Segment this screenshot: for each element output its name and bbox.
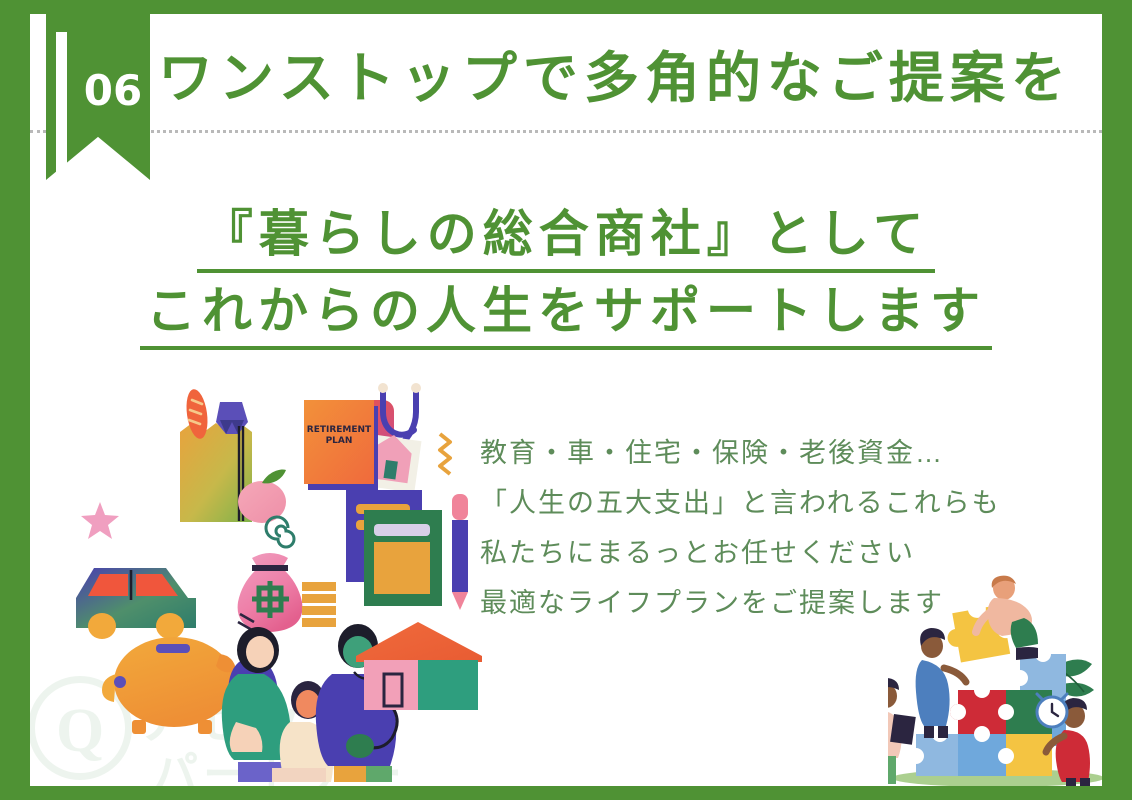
- retirement-folder-label-2: PLAN: [326, 436, 353, 446]
- piggy-bank-icon: [102, 637, 236, 734]
- clock-icon: [1037, 694, 1067, 727]
- puzzle-teamwork-illustration: [888, 570, 1102, 786]
- headline-row-1: 『暮らしの総合商社』として: [30, 202, 1102, 273]
- money-symbol: [252, 581, 289, 618]
- header-dotted-divider: [30, 130, 1102, 133]
- headline-block: 『暮らしの総合商社』として これからの人生をサポートします: [30, 202, 1102, 356]
- slide-frame: Q アセット パートナー 06 ワンストップで多角的なご提案を 『暮らしの総合商…: [0, 0, 1132, 800]
- retirement-folder-label-1: RETIREMENT: [307, 425, 372, 435]
- section-number-ribbon: 06: [46, 14, 150, 180]
- slide-canvas: Q アセット パートナー 06 ワンストップで多角的なご提案を 『暮らしの総合商…: [30, 14, 1102, 786]
- star-icon: [81, 502, 119, 539]
- car-icon: [76, 568, 196, 639]
- squiggle-icon: [440, 434, 450, 474]
- life-expenses-illustration: RETIREMENT PLAN: [70, 382, 490, 782]
- pencil-icon: [452, 494, 468, 610]
- body-line-2: 「人生の五大支出」と言われるこれらも: [480, 478, 1080, 528]
- headline-row-2: これからの人生をサポートします: [30, 279, 1102, 350]
- coin-stack-icon: [302, 582, 336, 627]
- retirement-plan-folder-icon: RETIREMENT PLAN: [288, 400, 421, 493]
- person-with-clipboard: [888, 678, 916, 784]
- jigsaw-piece-yellow-bottom: [998, 734, 1052, 776]
- headline-line-1: 『暮らしの総合商社』として: [197, 202, 936, 273]
- body-line-1: 教育・車・住宅・保険・老後資金…: [480, 428, 1080, 478]
- section-number: 06: [76, 66, 150, 115]
- jigsaw-piece-red: [950, 682, 1006, 734]
- ribbon-notch: [56, 32, 67, 180]
- headline-line-2: これからの人生をサポートします: [140, 279, 992, 350]
- money-bag-icon: [238, 553, 303, 632]
- page-title: ワンストップで多角的なご提案を: [158, 50, 1072, 108]
- books-icon: [346, 490, 442, 606]
